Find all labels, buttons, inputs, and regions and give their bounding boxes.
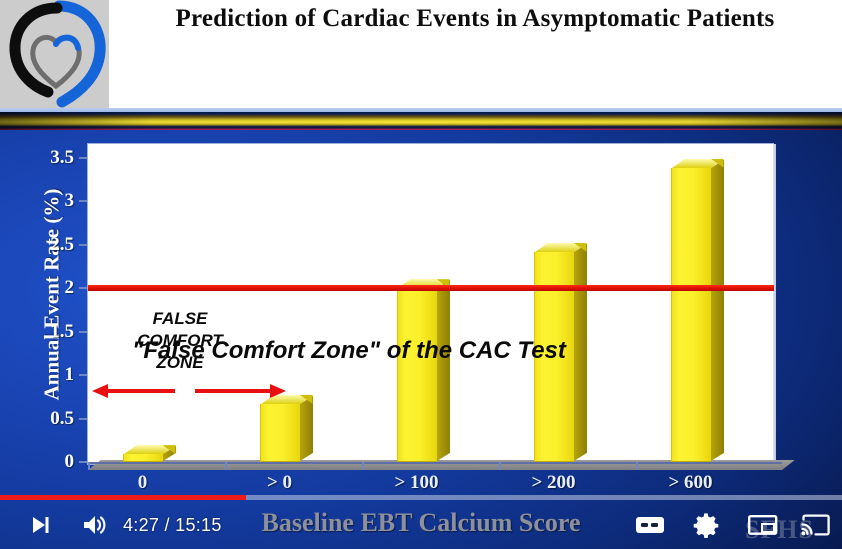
x-tick-mark [362, 462, 364, 470]
cc-icon [635, 514, 665, 536]
y-tick-mark [79, 287, 88, 289]
y-tick-label: 2 [28, 277, 74, 299]
y-tick-mark [79, 157, 88, 159]
x-tick-mark [636, 462, 638, 470]
zone-label-line2: COMFORT [110, 330, 250, 352]
false-comfort-zone-label: FALSE COMFORT ZONE [110, 308, 250, 374]
settings-button[interactable] [684, 503, 728, 547]
x-tick-label: 0 [88, 472, 198, 494]
y-tick-label: 1.5 [28, 321, 74, 343]
video-player-screen: Prediction of Cardiac Events in Asymptom… [0, 0, 842, 549]
x-tick-mark [88, 462, 90, 470]
x-tick-label: > 200 [499, 472, 609, 494]
y-tick-label: 3.5 [28, 147, 74, 169]
bar [260, 404, 300, 462]
threshold-line [88, 285, 774, 291]
x-tick-label: > 0 [225, 472, 335, 494]
volume-high-icon [81, 512, 107, 538]
bar [397, 288, 437, 462]
bar-side-face [574, 244, 587, 461]
y-tick-label: 0.5 [28, 408, 74, 430]
x-tick-mark [499, 462, 501, 470]
bar-side-face [300, 396, 313, 461]
x-tick-label: > 600 [636, 472, 746, 494]
y-tick-mark [79, 244, 88, 246]
x-tick-mark [225, 462, 227, 470]
zone-double-arrow-icon [90, 378, 290, 404]
plot-right-edge [773, 144, 776, 464]
zone-label-line1: FALSE [110, 308, 250, 330]
zone-label-line3: ZONE [110, 352, 250, 374]
y-tick-mark [79, 461, 88, 463]
y-tick-label: 0 [28, 451, 74, 473]
next-video-button[interactable] [18, 503, 62, 547]
y-tick-mark [79, 374, 88, 376]
x-tick-label: > 100 [362, 472, 472, 494]
y-tick-label: 2.5 [28, 234, 74, 256]
y-tick-mark [79, 418, 88, 420]
miniplayer-button[interactable] [740, 503, 786, 547]
bar [671, 168, 711, 462]
y-tick-label: 3 [28, 190, 74, 212]
bar-side-face [711, 159, 724, 461]
skip-next-icon [28, 513, 52, 537]
player-controls: 4:27 / 15:15 [0, 500, 842, 549]
heart-swirl-icon [4, 0, 108, 108]
y-tick-label: 1 [28, 364, 74, 386]
organization-logo [0, 0, 109, 108]
y-tick-mark [79, 200, 88, 202]
time-display: 4:27 / 15:15 [123, 503, 222, 547]
y-tick-mark [79, 331, 88, 333]
bar-chart: Annual Event Rate (%) 00.511.522.533.5 0… [0, 130, 842, 549]
bar-side-face [437, 280, 450, 461]
slide-body: Annual Event Rate (%) 00.511.522.533.5 0… [0, 130, 842, 549]
slide-title: Prediction of Cardiac Events in Asymptom… [130, 4, 820, 34]
bar [123, 454, 163, 462]
slide-header: Prediction of Cardiac Events in Asymptom… [0, 0, 842, 112]
gear-icon [693, 512, 719, 538]
cast-button[interactable] [794, 503, 838, 547]
captions-button[interactable] [628, 503, 672, 547]
x-axis-line [88, 462, 782, 464]
volume-button[interactable] [72, 503, 116, 547]
miniplayer-icon [748, 513, 778, 537]
cast-icon [801, 513, 831, 537]
